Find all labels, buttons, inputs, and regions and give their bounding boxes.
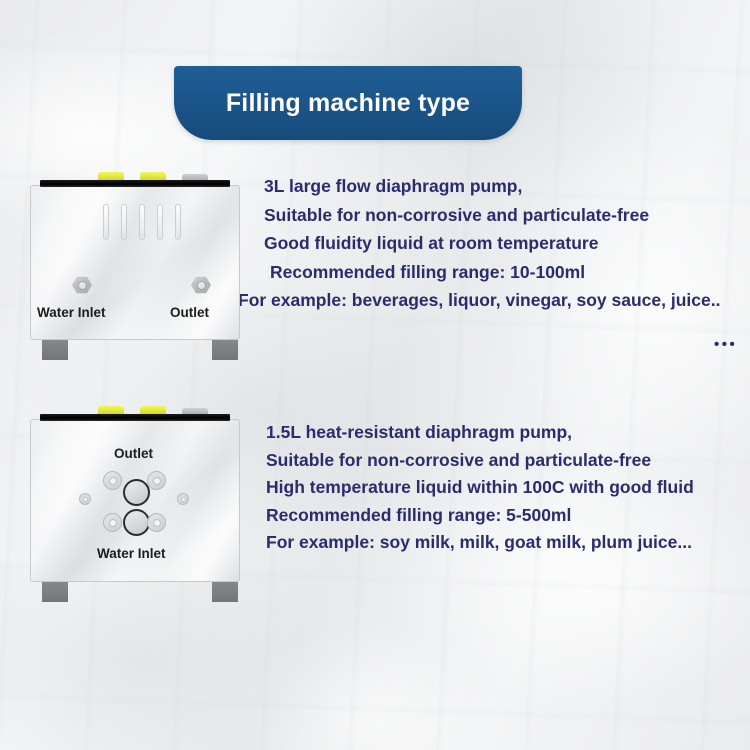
water-inlet-port — [123, 509, 150, 536]
cap-yellow-right — [140, 406, 166, 414]
ellipsis-indicator: ••• — [714, 337, 737, 352]
spec-line: For example: beverages, liquor, vinegar,… — [238, 292, 750, 310]
spec-line: Suitable for non-corrosive and particula… — [262, 207, 750, 225]
vent-slot — [139, 204, 145, 240]
machine-top-bar — [40, 180, 230, 187]
screw-port-left — [79, 493, 91, 505]
cap-yellow-left — [98, 406, 124, 414]
screw-port-upper-right — [147, 471, 166, 490]
product-row-3l: Water Inlet Outlet 3L large flow diaphra… — [0, 172, 750, 372]
spec-text-15l: 1.5L heat-resistant diaphragm pump, Suit… — [266, 424, 750, 562]
spec-line: High temperature liquid within 100C with… — [266, 479, 750, 497]
page-title: Filling machine type — [226, 89, 470, 118]
outlet-port — [123, 479, 150, 506]
vent-slot — [157, 204, 163, 240]
spec-line: For example: soy milk, milk, goat milk, … — [266, 534, 750, 552]
spec-line: Recommended filling range: 10-100ml — [262, 264, 750, 282]
machine-top-bar — [40, 414, 230, 421]
outlet-label: Outlet — [170, 305, 209, 320]
cap-yellow-right — [140, 172, 166, 180]
machine-body: Outlet Water Inlet — [30, 419, 240, 582]
screw-port-lower-left — [103, 513, 122, 532]
spec-line: 3L large flow diaphragm pump, — [262, 178, 750, 196]
machine-body: Water Inlet Outlet — [30, 185, 240, 340]
spec-line: Suitable for non-corrosive and particula… — [266, 452, 750, 470]
water-inlet-label: Water Inlet — [97, 546, 166, 561]
vent-slot-group — [103, 204, 181, 240]
outlet-label: Outlet — [114, 446, 153, 461]
spec-line: Good fluidity liquid at room temperature — [262, 235, 750, 253]
header-banner: Filling machine type — [174, 66, 522, 140]
water-inlet-hexnut — [72, 276, 92, 294]
vent-slot — [175, 204, 181, 240]
screw-port-upper-left — [103, 471, 122, 490]
spec-line: Recommended filling range: 5-500ml — [266, 507, 750, 525]
vent-slot — [121, 204, 127, 240]
spec-line: 1.5L heat-resistant diaphragm pump, — [266, 424, 750, 442]
vent-slot — [103, 204, 109, 240]
screw-port-right — [177, 493, 189, 505]
product-row-15l: Outlet Water Inlet 1.5L heat-resistant d… — [0, 406, 750, 616]
water-inlet-label: Water Inlet — [37, 305, 106, 320]
cap-yellow-left — [98, 172, 124, 180]
screw-port-lower-right — [147, 513, 166, 532]
outlet-hexnut — [191, 276, 211, 294]
spec-text-3l: 3L large flow diaphragm pump, Suitable f… — [262, 178, 750, 321]
